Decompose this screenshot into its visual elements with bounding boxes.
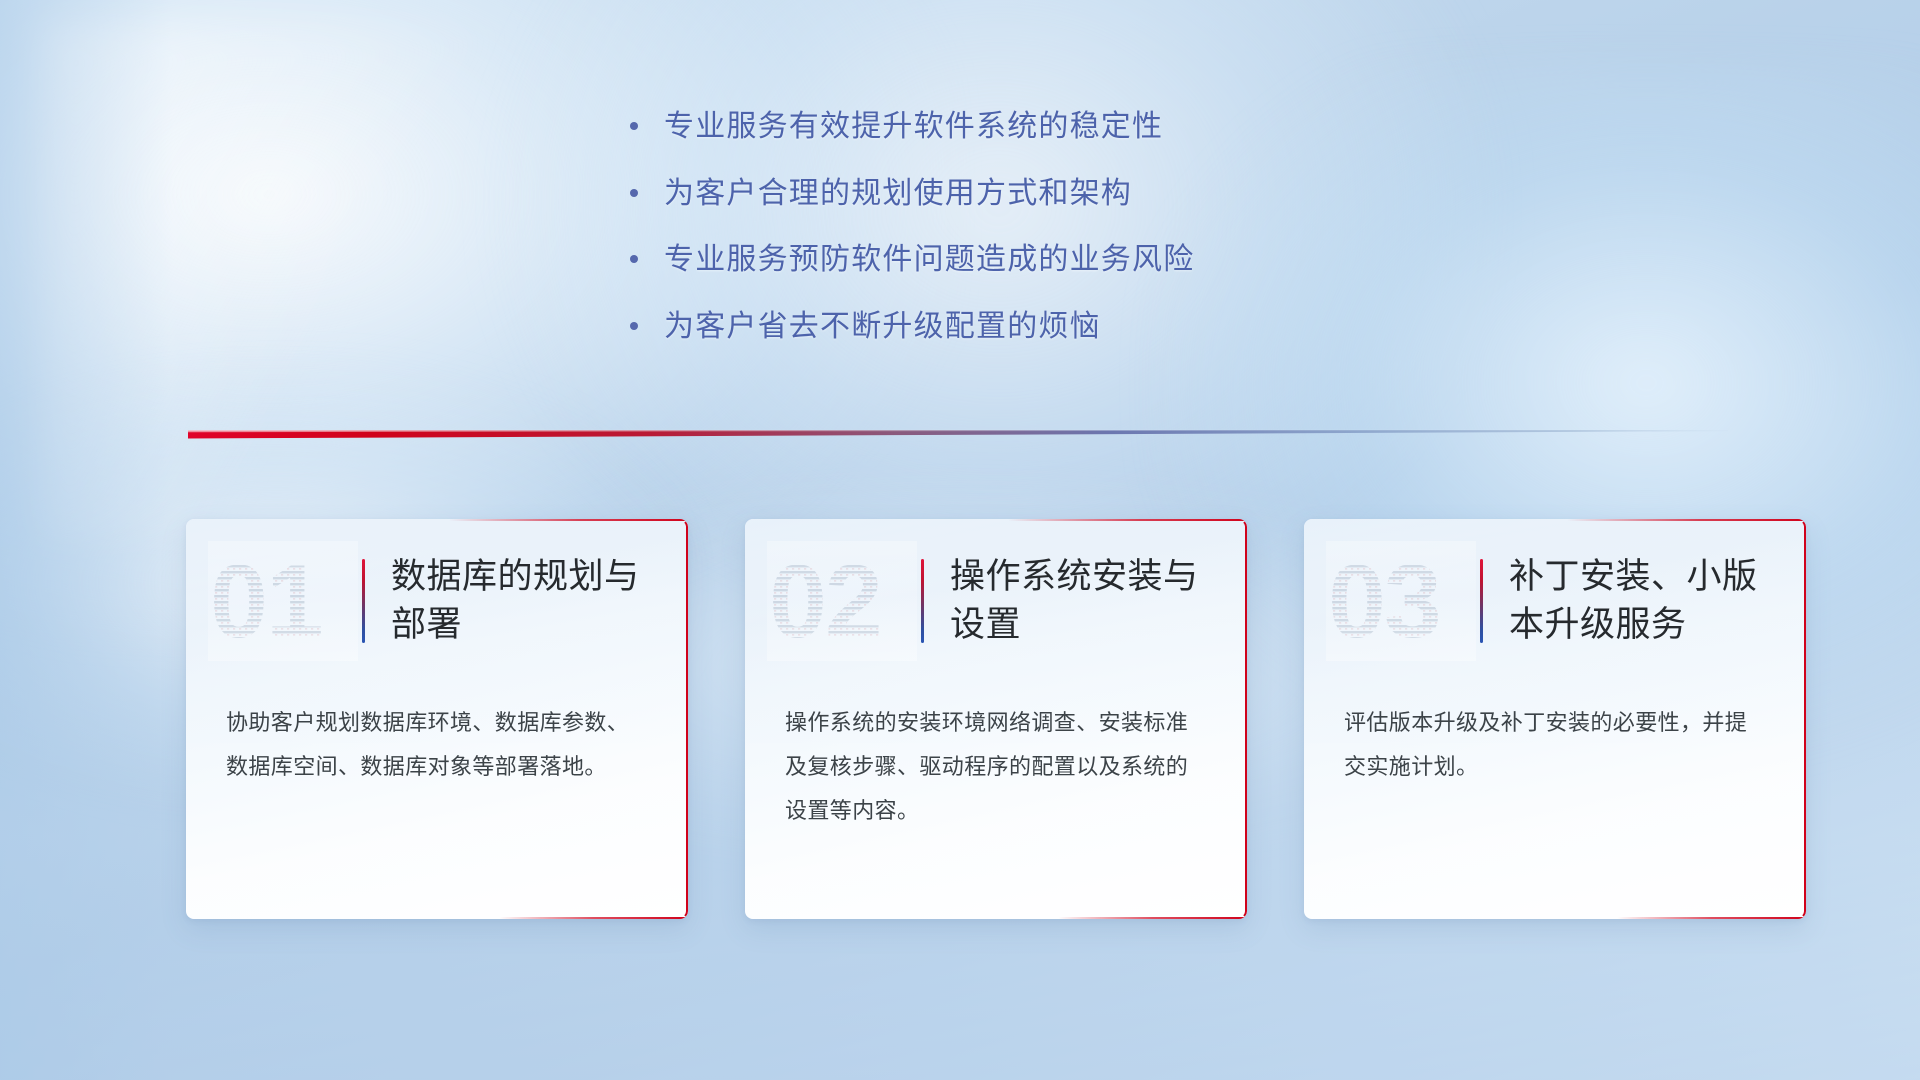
card-body-text: 协助客户规划数据库环境、数据库参数、数据库空间、数据库对象等部署落地。 [186, 683, 688, 789]
card-title: 数据库的规划与部署 [391, 553, 688, 650]
bullet-dot-icon [630, 311, 664, 337]
card-number-glyph: 02 [767, 541, 917, 661]
benefits-bullet-list: 专业服务有效提升软件系统的稳定性 为客户合理的规划使用方式和架构 专业服务预防软… [0, 108, 1920, 374]
card-header: 01 数据库的规划与部署 [186, 519, 688, 683]
service-cards-row: 01 数据库的规划与部署 协助客户规划数据库环境、数据库参数、数据库空间、数据库… [186, 519, 1806, 919]
bullet-item: 专业服务有效提升软件系统的稳定性 [630, 108, 1290, 146]
bullet-label: 专业服务预防软件问题造成的业务风险 [664, 241, 1290, 279]
card-title-rule [921, 559, 924, 643]
bullet-dot-icon [630, 111, 664, 137]
card-body-text: 操作系统的安装环境网络调查、安装标准及复核步骤、驱动程序的配置以及系统的设置等内… [745, 683, 1247, 833]
bullet-label: 专业服务有效提升软件系统的稳定性 [664, 108, 1290, 146]
bullet-item: 为客户省去不断升级配置的烦恼 [630, 308, 1290, 346]
service-card[interactable]: 03 补丁安装、小版本升级服务 评估版本升级及补丁安装的必要性，并提交实施计划。 [1304, 519, 1806, 919]
card-header: 03 补丁安装、小版本升级服务 [1304, 519, 1806, 683]
service-card[interactable]: 02 操作系统安装与设置 操作系统的安装环境网络调查、安装标准及复核步骤、驱动程… [745, 519, 1247, 919]
card-title: 操作系统安装与设置 [950, 553, 1247, 650]
bullet-label: 为客户省去不断升级配置的烦恼 [664, 308, 1290, 346]
service-card[interactable]: 01 数据库的规划与部署 协助客户规划数据库环境、数据库参数、数据库空间、数据库… [186, 519, 688, 919]
bullet-label: 为客户合理的规划使用方式和架构 [664, 175, 1290, 213]
bullet-item: 为客户合理的规划使用方式和架构 [630, 175, 1290, 213]
bullet-dot-icon [630, 178, 664, 204]
bullet-dot-icon [630, 244, 664, 270]
bullet-item: 专业服务预防软件问题造成的业务风险 [630, 241, 1290, 279]
card-title: 补丁安装、小版本升级服务 [1509, 553, 1806, 650]
section-divider [188, 428, 1728, 444]
card-number-glyph: 01 [208, 541, 358, 661]
card-number-glyph: 03 [1326, 541, 1476, 661]
card-body-text: 评估版本升级及补丁安装的必要性，并提交实施计划。 [1304, 683, 1806, 789]
card-header: 02 操作系统安装与设置 [745, 519, 1247, 683]
card-title-rule [1480, 559, 1483, 643]
card-title-rule [362, 559, 365, 643]
